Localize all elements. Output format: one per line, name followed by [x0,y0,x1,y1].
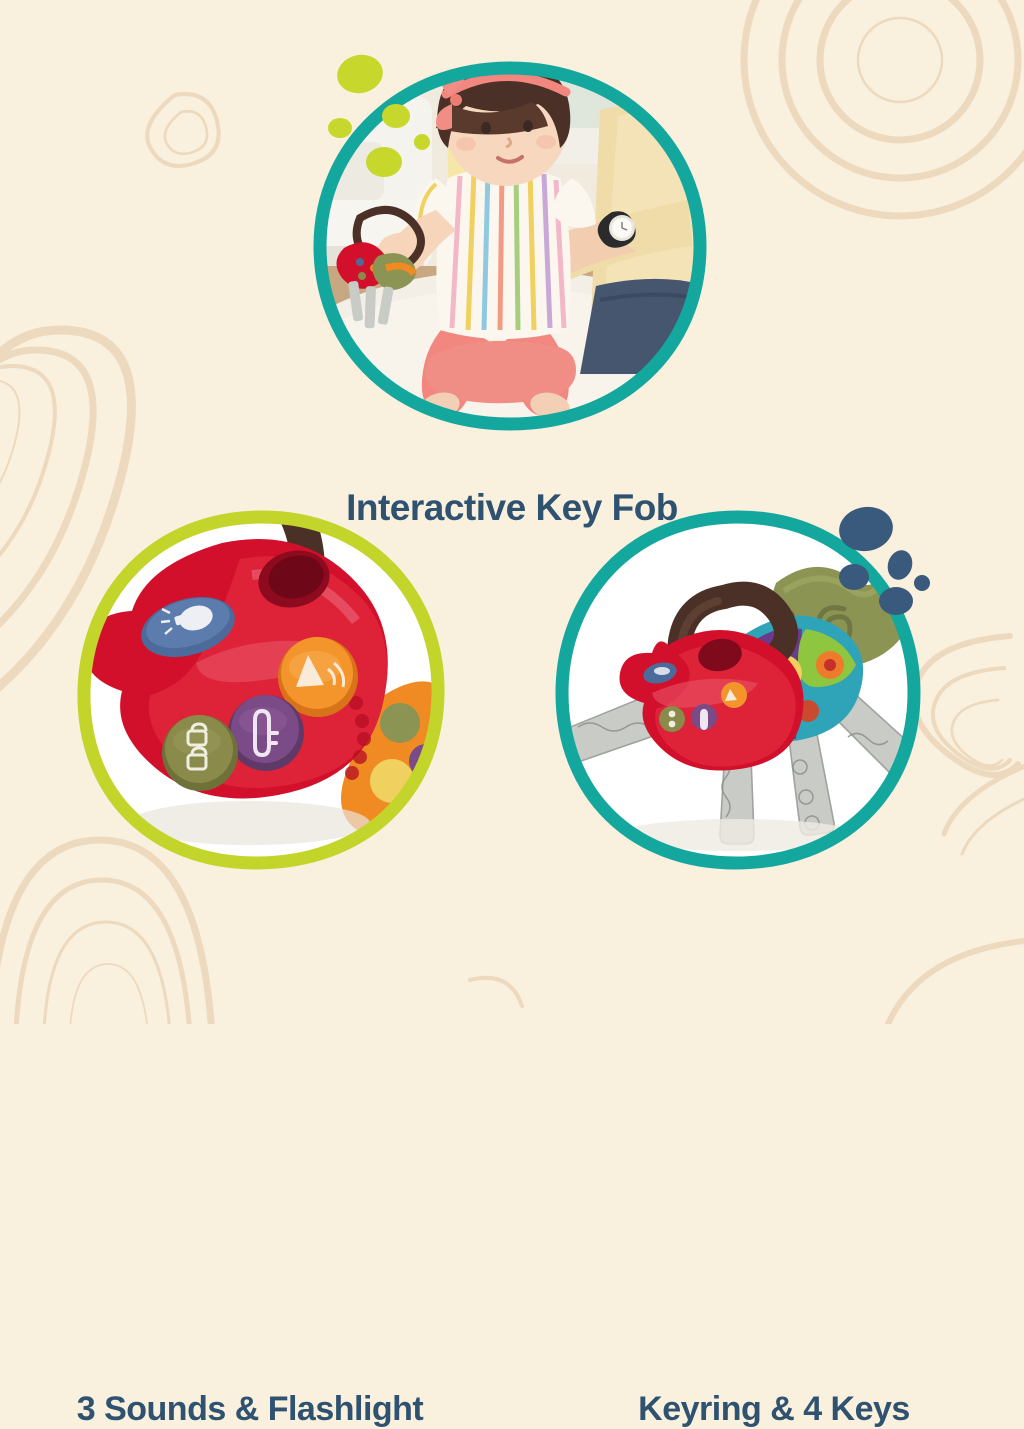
caption-keyring-and-keys: Keyring & 4 Keys [524,1390,1024,1429]
button-lock-unlock[interactable] [162,715,238,791]
panel-interactive-key-fob[interactable]: Interactive Key Fob [300,50,720,440]
panel-sounds-and-flashlight[interactable]: 3 Sounds & Flashlight [70,505,450,875]
deco-sweeps-right [944,760,1024,854]
button-key[interactable] [228,695,304,771]
deco-arcs-bottom-right [884,940,1024,1024]
infographic-canvas: Interactive Key Fob [0,0,1024,1024]
deco-rings-top-left [147,94,218,166]
panel-keyring-and-keys[interactable]: Keyring & 4 Keys [548,505,928,875]
caption-sounds-and-flashlight: 3 Sounds & Flashlight [0,1390,500,1429]
deco-rings-bottom-center [470,978,522,1006]
deco-angular-right [914,636,1018,775]
deco-rings-top-right [744,0,1024,216]
